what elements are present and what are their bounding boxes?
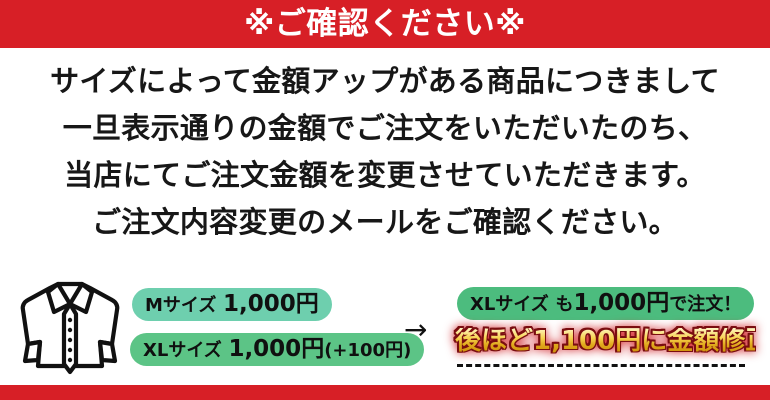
price-correction-text: 後ほど1,100円に金額修正 [455,328,755,355]
badge-xl-size-label: XLサイズ [143,340,222,361]
footer-bar [0,385,770,400]
badge-xl-size-price: XLサイズ 1,000円(+100円) [130,333,424,366]
badge-m-size-text: Mサイズ 1,000円 [145,293,319,316]
notice-banner: ※ご確認ください※ サイズによって金額アップがある商品につきまして 一旦表示通り… [0,0,770,400]
badge-xl-size-text: XLサイズ 1,000円(+100円) [143,338,411,361]
price-comparison: Mサイズ 1,000円 XLサイズ 1,000円(+100円) → XLサイズ … [0,262,770,382]
badge-xl-order-amount: 1,000円 [573,290,669,316]
notice-line-3: 当店にてご注文金額を変更させていただきます。 [0,152,770,199]
badge-m-size-amount: 1,000円 [223,291,319,317]
header-bar: ※ご確認ください※ [0,0,770,48]
badge-m-size-price: Mサイズ 1,000円 [132,288,332,321]
badge-xl-size-amount: 1,000円 [228,336,324,362]
notice-line-1: サイズによって金額アップがある商品につきまして [0,58,770,105]
price-correction-note: 後ほど1,100円に金額修正 [455,328,755,355]
badge-m-size-label: Mサイズ [145,295,216,316]
dress-shirt-icon [14,268,126,380]
badge-xl-order-suffix: で注文！ [669,294,741,315]
badge-xl-order-label: XLサイズ [470,294,549,315]
notice-body: サイズによって金額アップがある商品につきまして 一旦表示通りの金額でご注文をいた… [0,58,770,246]
notice-line-4: ご注文内容変更のメールをご確認ください。 [0,199,770,246]
badge-xl-size-note: (+100円) [324,340,411,361]
badge-xl-order-price: XLサイズ も1,000円で注文！ [457,287,754,320]
badge-xl-order-text: XLサイズ も1,000円で注文！ [470,292,741,315]
arrow-right-icon: → [404,316,427,344]
page-title: ※ご確認ください※ [244,9,526,40]
dashed-underline [457,364,745,367]
notice-line-2: 一旦表示通りの金額でご注文をいただいたのち、 [0,105,770,152]
badge-xl-order-particle: も [555,294,573,315]
